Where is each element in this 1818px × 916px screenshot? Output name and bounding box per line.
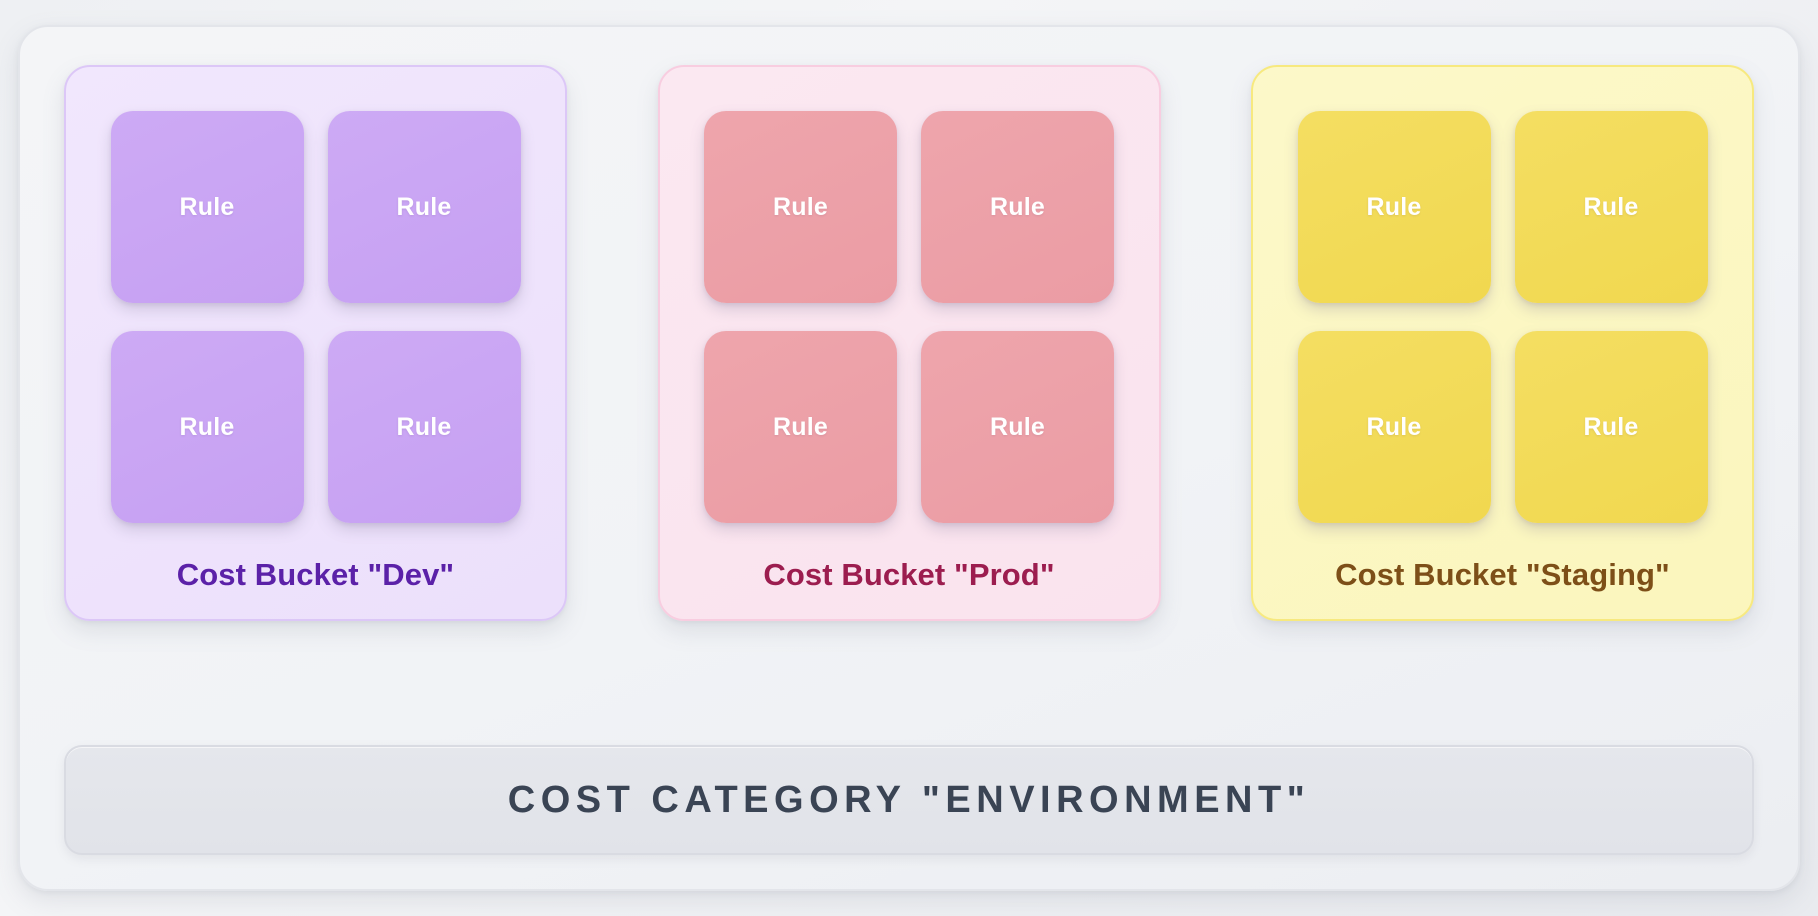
rule-tile[interactable]: Rule (111, 111, 304, 303)
rule-tile-label: Rule (1367, 193, 1422, 222)
rule-tile[interactable]: Rule (704, 331, 897, 523)
cost-bucket-label-dev: Cost Bucket "Dev" (177, 557, 454, 599)
cost-category-bar[interactable]: COST CATEGORY "ENVIRONMENT" (64, 745, 1754, 855)
rule-tile-label: Rule (180, 193, 235, 222)
rule-tile[interactable]: Rule (1515, 111, 1708, 303)
rule-tile-label: Rule (1367, 413, 1422, 442)
rule-tile-label: Rule (990, 193, 1045, 222)
cost-bucket-prod[interactable]: Rule Rule Rule Rule Cost Bucket "Prod" (658, 65, 1161, 621)
rule-grid-dev: Rule Rule Rule Rule (111, 111, 521, 523)
rule-tile[interactable]: Rule (1515, 331, 1708, 523)
rule-tile[interactable]: Rule (111, 331, 304, 523)
rule-tile-label: Rule (397, 413, 452, 442)
rule-tile[interactable]: Rule (704, 111, 897, 303)
cost-bucket-dev[interactable]: Rule Rule Rule Rule Cost Bucket "Dev" (64, 65, 567, 621)
cost-bucket-label-prod: Cost Bucket "Prod" (763, 557, 1054, 599)
cost-bucket-staging[interactable]: Rule Rule Rule Rule Cost Bucket "Staging… (1251, 65, 1754, 621)
rule-tile[interactable]: Rule (328, 111, 521, 303)
rule-grid-prod: Rule Rule Rule Rule (704, 111, 1114, 523)
rule-tile[interactable]: Rule (1298, 111, 1491, 303)
rule-tile-label: Rule (397, 193, 452, 222)
rule-tile[interactable]: Rule (328, 331, 521, 523)
rule-tile[interactable]: Rule (921, 331, 1114, 523)
rule-tile-label: Rule (773, 193, 828, 222)
rule-tile-label: Rule (990, 413, 1045, 442)
cost-category-label: COST CATEGORY "ENVIRONMENT" (508, 779, 1310, 822)
rule-tile-label: Rule (1584, 193, 1639, 222)
cost-bucket-row: Rule Rule Rule Rule Cost Bucket "Dev" Ru… (54, 65, 1764, 621)
cost-category-container: Rule Rule Rule Rule Cost Bucket "Dev" Ru… (18, 25, 1800, 891)
rule-grid-staging: Rule Rule Rule Rule (1298, 111, 1708, 523)
rule-tile-label: Rule (1584, 413, 1639, 442)
rule-tile[interactable]: Rule (1298, 331, 1491, 523)
rule-tile-label: Rule (773, 413, 828, 442)
rule-tile[interactable]: Rule (921, 111, 1114, 303)
rule-tile-label: Rule (180, 413, 235, 442)
cost-bucket-label-staging: Cost Bucket "Staging" (1335, 557, 1670, 599)
